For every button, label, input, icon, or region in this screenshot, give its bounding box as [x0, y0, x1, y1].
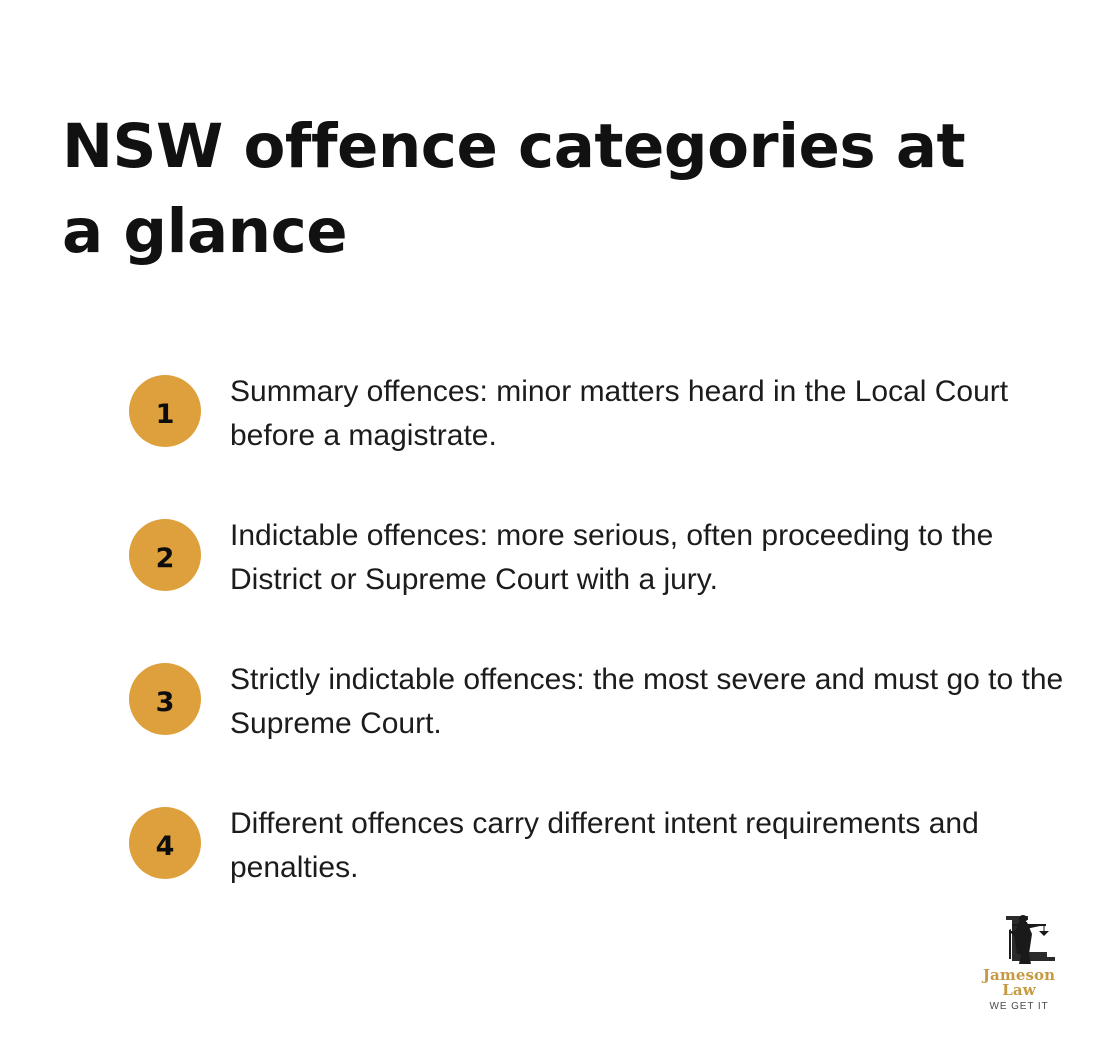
list-number-badge: 4 — [129, 807, 201, 879]
list-number-label: 3 — [156, 689, 175, 716]
page-title: NSW offence categories at a glance — [62, 104, 982, 274]
list-number-label: 2 — [156, 545, 175, 572]
list-number-label: 1 — [156, 401, 175, 428]
list-number-badge: 2 — [129, 519, 201, 591]
list-item-text: Indictable offences: more serious, often… — [201, 514, 1069, 602]
list-number-badge: 3 — [129, 663, 201, 735]
list-item: 3 Strictly indictable offences: the most… — [129, 658, 1069, 746]
list-item-text: Summary offences: minor matters heard in… — [201, 370, 1069, 458]
list-item: 4 Different offences carry different int… — [129, 802, 1069, 890]
list-item-text: Strictly indictable offences: the most s… — [201, 658, 1069, 746]
logo-tagline: WE GET IT — [965, 1002, 1073, 1012]
list-number-label: 4 — [156, 833, 175, 860]
logo-wordmark: Jameson Law — [965, 968, 1073, 998]
brand-logo: Jameson Law WE GET IT — [965, 912, 1073, 996]
slide-canvas: NSW offence categories at a glance 1 Sum… — [0, 0, 1120, 1050]
list-item-text: Different offences carry different inten… — [201, 802, 1069, 890]
list-item: 1 Summary offences: minor matters heard … — [129, 370, 1069, 458]
list-item: 2 Indictable offences: more serious, oft… — [129, 514, 1069, 602]
lady-justice-scales-icon — [965, 912, 1073, 966]
list-number-badge: 1 — [129, 375, 201, 447]
numbered-list: 1 Summary offences: minor matters heard … — [129, 370, 1069, 890]
